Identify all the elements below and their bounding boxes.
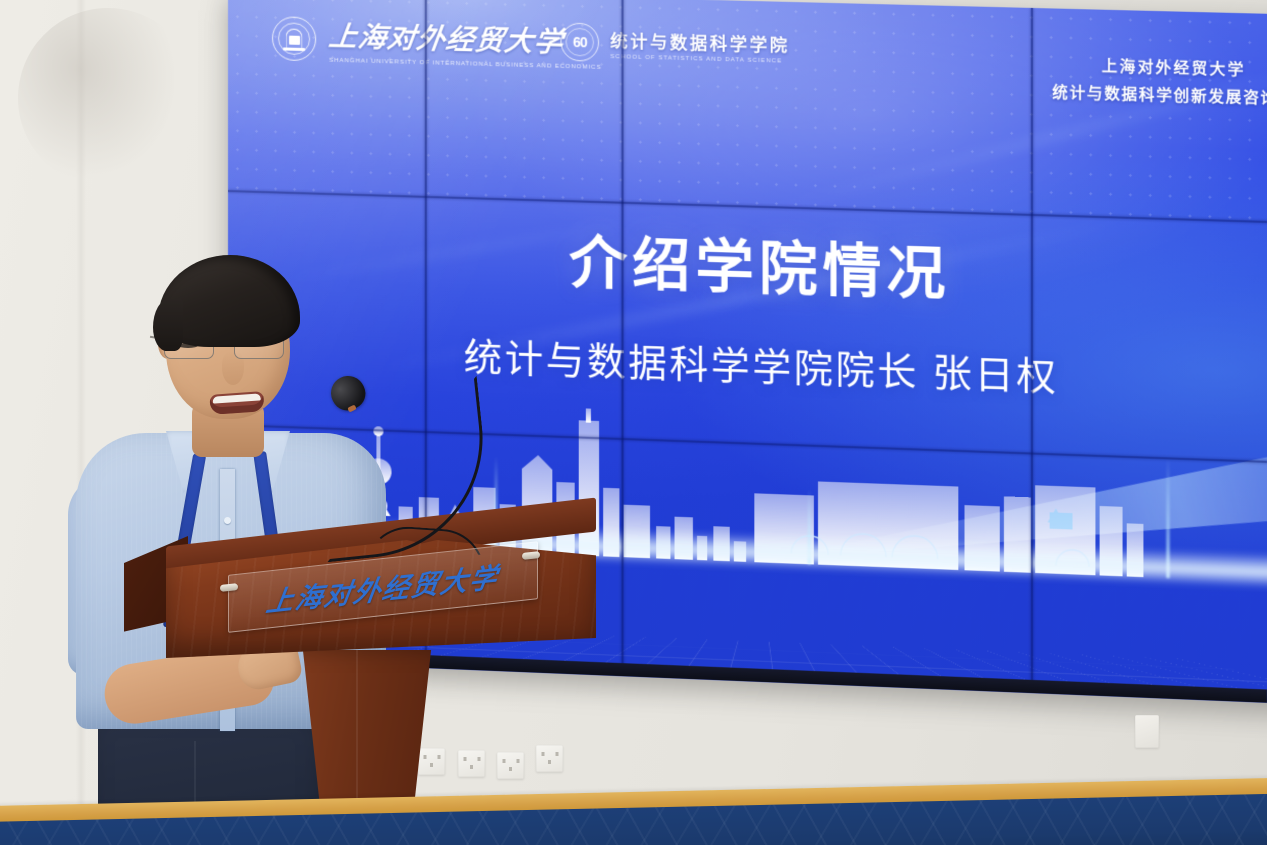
- school-crest-icon: 60: [560, 22, 599, 61]
- event-line-1: 上海对外经贸大学: [1052, 53, 1267, 81]
- school-name-cn: 统计与数据科学学院: [610, 26, 789, 56]
- school-crest-mark: 60: [573, 35, 587, 49]
- wall-outlet-right[interactable]: [1135, 715, 1159, 748]
- university-crest-icon: [272, 16, 316, 61]
- slide-header-school: 60 统计与数据科学学院 SCHOOL OF STATISTICS AND DA…: [560, 22, 789, 66]
- speaker-hair: [158, 255, 300, 347]
- gooseneck-microphone[interactable]: [318, 384, 508, 574]
- slide-header-university: 上海对外经贸大学 SHANGHAI UNIVERSITY OF INTERNAT…: [272, 13, 602, 71]
- slide-header-event: 上海对外经贸大学 统计与数据科学创新发展咨询会: [1052, 53, 1267, 109]
- conference-room-scene: 上海对外经贸大学 SHANGHAI UNIVERSITY OF INTERNAT…: [0, 0, 1267, 845]
